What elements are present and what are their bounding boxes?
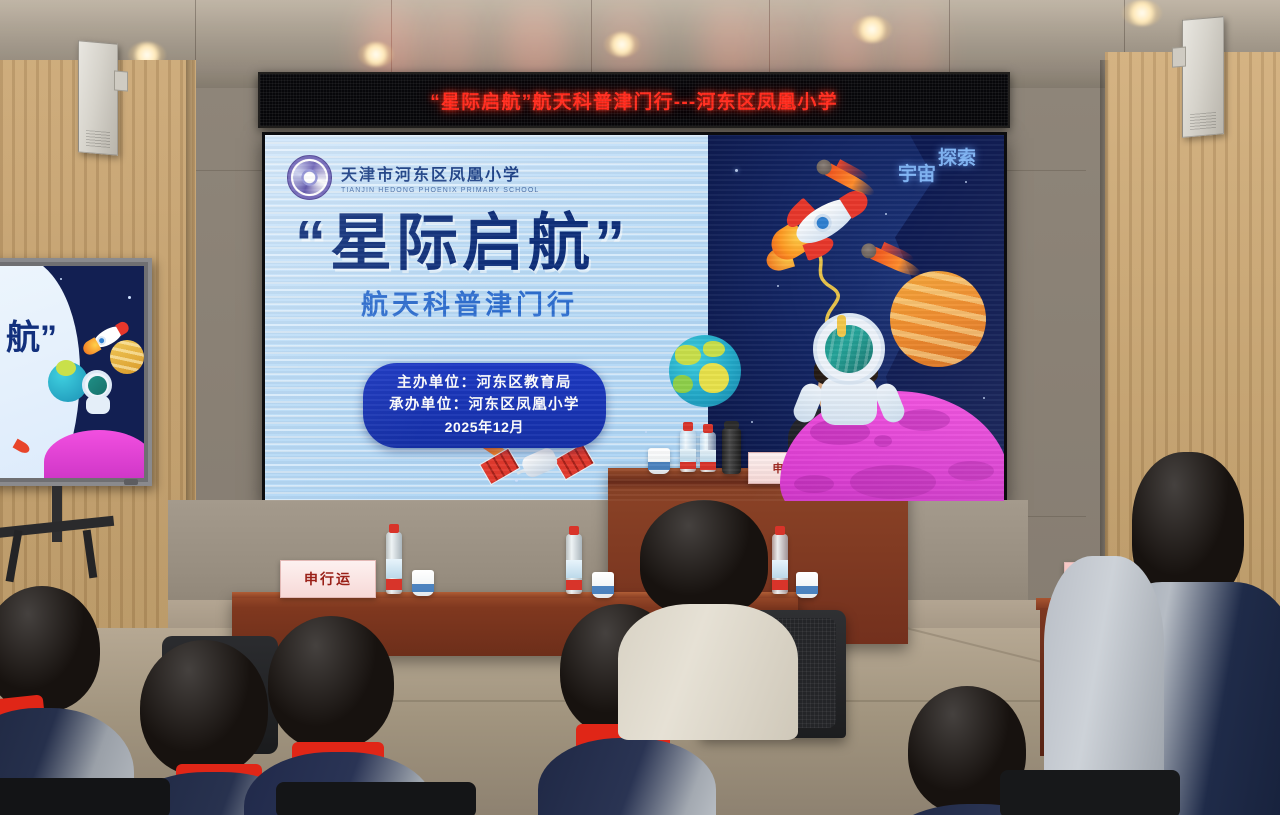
led-banner: “星际启航”航天科普津门行---河东区凤凰小学 bbox=[258, 72, 1010, 128]
water-bottle bbox=[386, 532, 402, 594]
explore-col-right: 探索 bbox=[938, 149, 976, 169]
slide-content: 天津市河东区凤凰小学 TIANJIN HEDONG PHOENIX PRIMAR… bbox=[265, 135, 1004, 501]
chair-back bbox=[0, 778, 170, 815]
slide-headline: “星际启航” 航天科普津门行 bbox=[295, 213, 629, 322]
explore-col-left: 宇宙 bbox=[898, 165, 936, 185]
organizer-line-1: 主办单位：河东区教育局 bbox=[389, 372, 580, 394]
ceiling-downlight bbox=[852, 16, 892, 43]
water-bottle bbox=[566, 534, 582, 594]
ceiling-downlight bbox=[604, 32, 640, 57]
paper-cup bbox=[412, 570, 434, 596]
wall-speaker bbox=[1182, 16, 1224, 138]
wall-speaker bbox=[78, 40, 118, 155]
ceiling-downlight bbox=[1122, 0, 1162, 26]
ceiling-downlight bbox=[358, 42, 394, 67]
led-banner-text: “星际启航”航天科普津门行---河东区凤凰小学 bbox=[430, 87, 838, 114]
water-bottle bbox=[700, 432, 716, 472]
organizer-date: 2025年12月 bbox=[389, 417, 580, 439]
water-bottle bbox=[680, 430, 696, 472]
monitor-stand bbox=[52, 486, 62, 542]
school-emblem-icon bbox=[287, 155, 332, 200]
slide-title: “星际启航” bbox=[295, 213, 629, 275]
school-name-en: TIANJIN HEDONG PHOENIX PRIMARY SCHOOL bbox=[341, 187, 539, 194]
black-thermos bbox=[722, 428, 741, 474]
room: “星际启航”航天科普津门行---河东区凤凰小学 bbox=[0, 0, 1280, 815]
paper-cup bbox=[592, 572, 614, 598]
school-name-cn: 天津市河东区凤凰小学 bbox=[341, 161, 539, 185]
water-bottle bbox=[772, 534, 788, 594]
earth-icon bbox=[669, 335, 741, 407]
organizer-line-2: 承办单位：河东区凤凰小学 bbox=[389, 394, 580, 416]
chair-back bbox=[1000, 770, 1180, 815]
presentation-screen: 天津市河东区凤凰小学 TIANJIN HEDONG PHOENIX PRIMAR… bbox=[262, 132, 1007, 504]
astronaut-icon bbox=[793, 313, 905, 441]
paper-cup bbox=[648, 448, 670, 474]
slide-subtitle: 航天科普津门行 bbox=[361, 283, 629, 322]
nameplate-front-table: 申行运 bbox=[280, 560, 376, 598]
nameplate-front-table-text: 申行运 bbox=[304, 569, 352, 589]
lecture-hall-photo: “星际启航”航天科普津门行---河东区凤凰小学 bbox=[0, 0, 1280, 815]
paper-cup bbox=[796, 572, 818, 598]
explore-universe-text: 宇宙 探索 bbox=[898, 149, 976, 185]
organizer-info: 主办单位：河东区教育局 承办单位：河东区凤凰小学 2025年12月 bbox=[363, 363, 606, 448]
chair-back bbox=[276, 782, 476, 815]
school-logo: 天津市河东区凤凰小学 TIANJIN HEDONG PHOENIX PRIMAR… bbox=[287, 155, 539, 200]
side-display-monitor: 航” bbox=[0, 258, 152, 486]
